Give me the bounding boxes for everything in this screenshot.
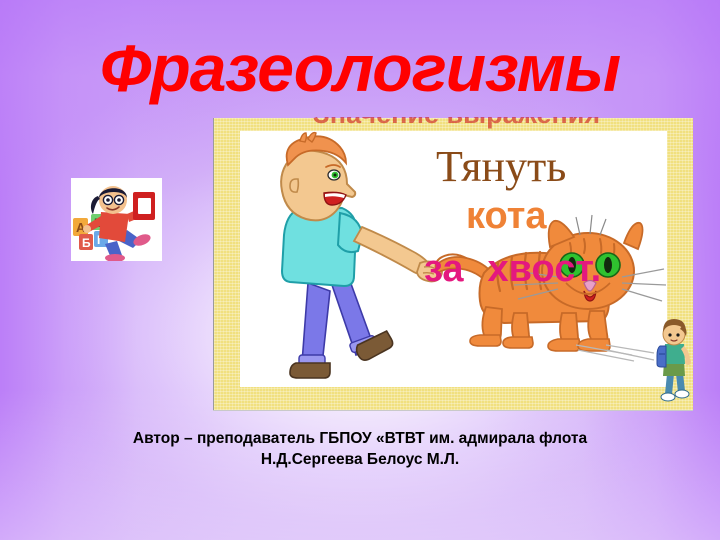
illustration-card: Значение выражения	[213, 118, 693, 410]
phrase-line-3: захвост.	[424, 249, 601, 289]
author-line-1: Автор – преподаватель ГБПОУ «ВТВТ им. ад…	[110, 428, 610, 449]
author-credit: Автор – преподаватель ГБПОУ «ВТВТ им. ад…	[110, 428, 610, 470]
student-with-letters-and-book-icon: A Б B Г Д	[71, 178, 162, 261]
phrase-line-2: кота	[466, 196, 547, 236]
phrase-line-3-word-b: хвост.	[488, 248, 602, 290]
svg-text:Б: Б	[82, 236, 91, 250]
illustration-canvas: Тянуть кота захвост.	[240, 131, 667, 387]
author-line-2: Н.Д.Сергеева Белоус М.Л.	[110, 449, 610, 470]
card-clipped-caption: Значение выражения	[240, 117, 673, 130]
phrase-line-1: Тянуть	[436, 144, 566, 190]
student-clipart-image: A Б B Г Д	[71, 178, 162, 261]
page-title: Фразеологизмы	[0, 34, 720, 102]
presentation-slide: Фразеологизмы A Б B Г Д	[0, 0, 720, 540]
phrase-line-3-word-a: за	[424, 248, 464, 290]
boy-figure	[281, 133, 442, 378]
side-schoolboy-clipart	[652, 318, 696, 404]
card-clipped-caption-text: Значение выражения	[313, 117, 600, 129]
schoolboy-with-backpack-icon	[652, 318, 696, 404]
